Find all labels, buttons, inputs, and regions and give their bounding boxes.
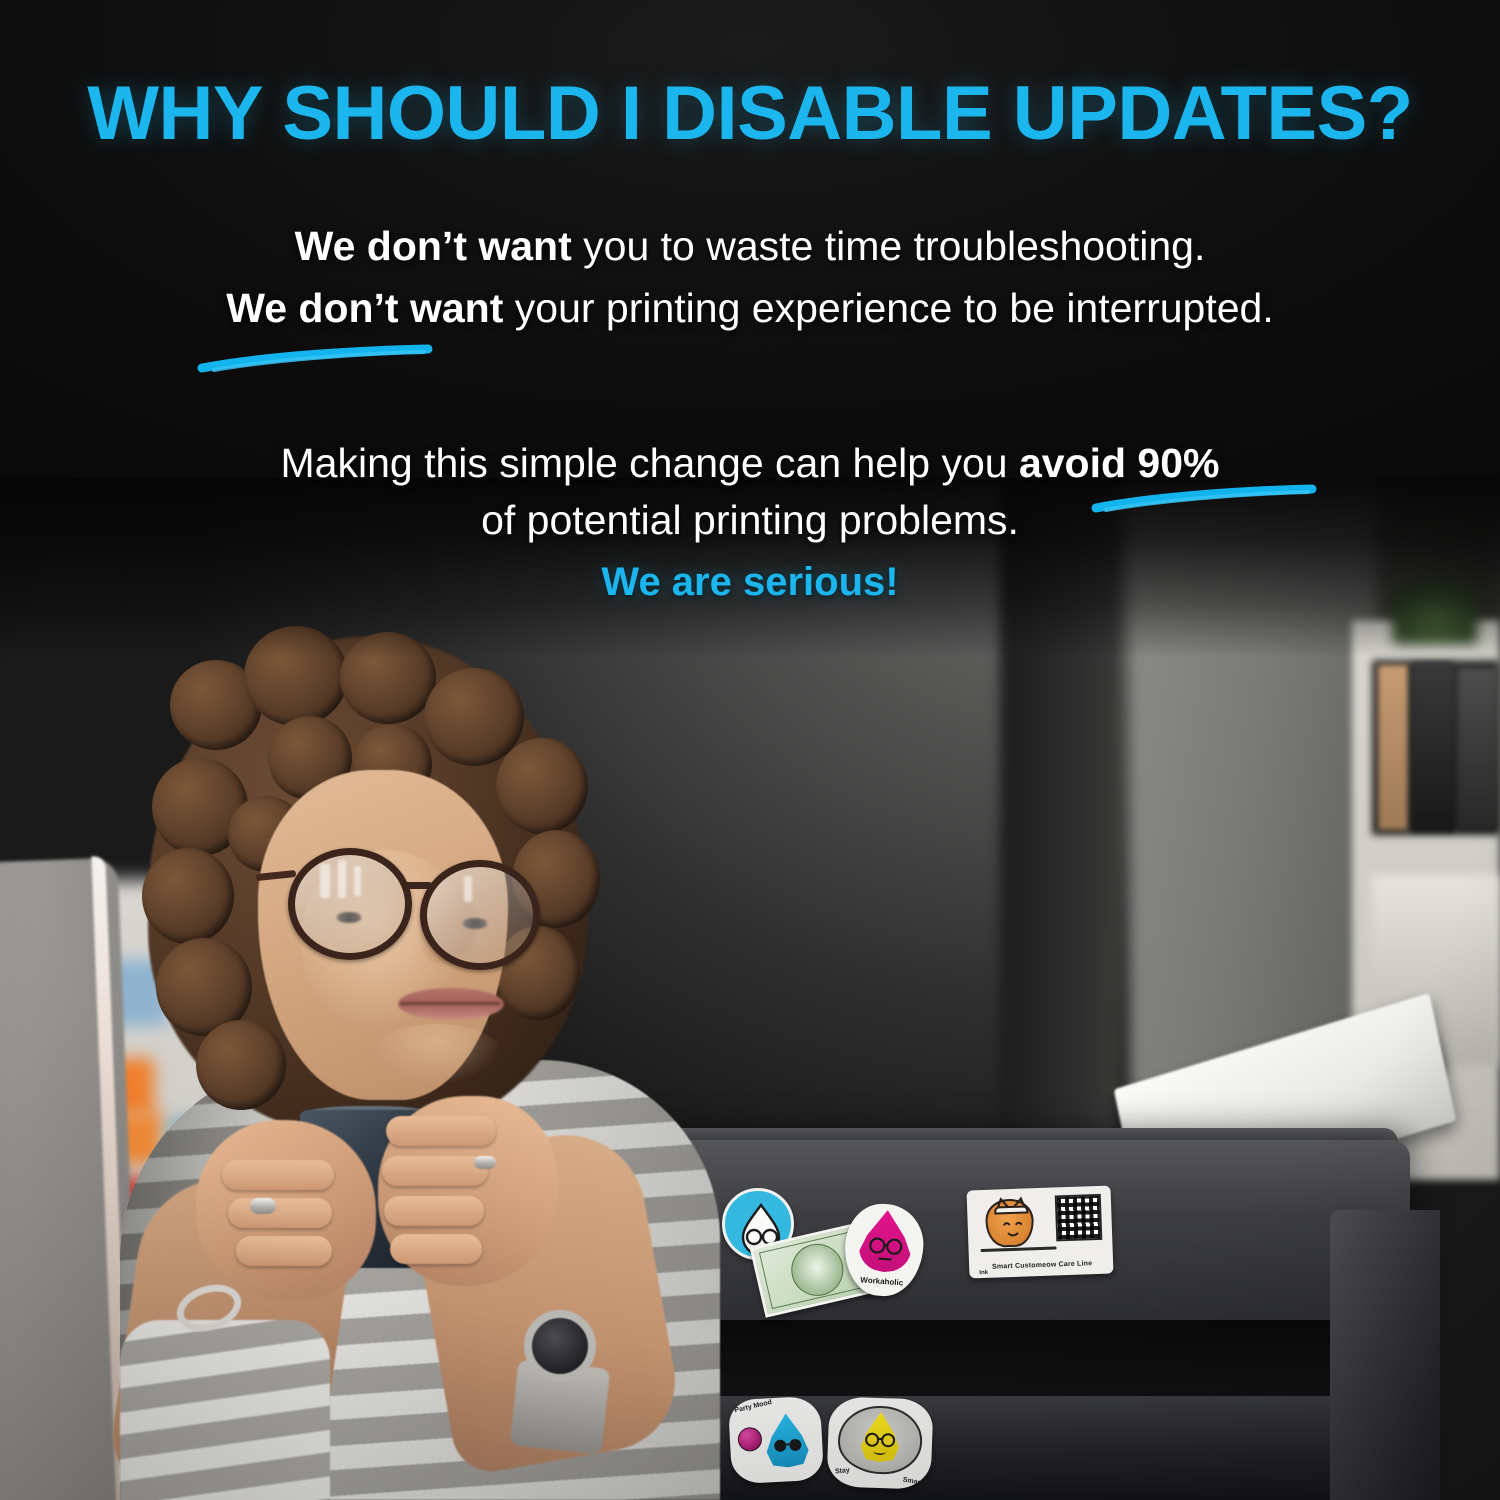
cyan-marker-underline-1 [196, 338, 436, 378]
body-line-1-rest: you to waste time troubleshooting. [572, 223, 1206, 269]
body-line-1-bold: We don’t want [295, 223, 572, 269]
text-overlay: WHY SHOULD I DISABLE UPDATES? We don’t w… [0, 0, 1500, 1500]
body-line-2-rest: your printing experience to be interrupt… [503, 285, 1273, 331]
closing-statement: We are serious! [0, 560, 1500, 605]
body-line-3-rest: Making this simple change can help you [281, 440, 1019, 486]
page-title: WHY SHOULD I DISABLE UPDATES? [0, 70, 1500, 157]
promo-banner: 100 Workaholic Smart Customeow Care Li [0, 0, 1500, 1500]
body-line-4: of potential printing problems. [0, 497, 1500, 544]
body-line-2-bold: We don’t want [226, 285, 503, 331]
body-line-1: We don’t want you to waste time troubles… [0, 223, 1500, 270]
body-line-3: Making this simple change can help you a… [0, 440, 1500, 487]
body-line-2: We don’t want your printing experience t… [0, 285, 1500, 332]
body-line-3-bold: avoid 90% [1019, 440, 1220, 486]
